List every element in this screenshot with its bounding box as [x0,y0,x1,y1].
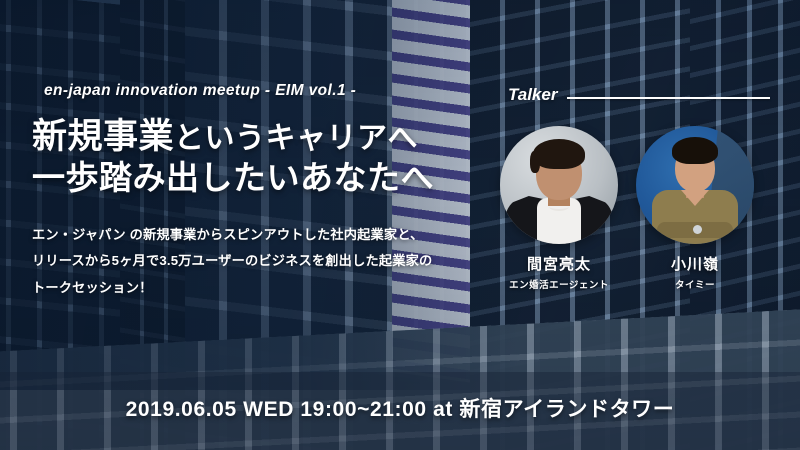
event-series-kicker: en-japan innovation meetup - EIM vol.1 - [44,82,356,100]
event-datetime-bar: 2019.06.05 WED 19:00~21:00 at 新宿アイランドタワー [0,386,800,430]
talker-section-header: Talker [508,84,770,106]
speaker-name: 小川嶺 [636,253,754,274]
event-banner: en-japan innovation meetup - EIM vol.1 -… [0,0,800,450]
speaker-avatar [636,126,754,244]
lead-line: トークセッション！ [32,275,452,301]
lead-line: リリースから5ヶ月で3.5万ユーザーのビジネスを創出した起業家の [32,248,452,274]
speaker-list: 間宮亮太 エン婚活エージェント 小川嶺 タイミー [500,126,785,291]
talker-divider-rule [567,97,770,99]
event-datetime-text: 2019.06.05 WED 19:00~21:00 at 新宿アイランドタワー [126,393,675,423]
headline-emphasis: 新規事業 [32,117,174,156]
headline-line-1-rest: というキャリアへ [174,122,418,155]
speaker-org: エン婚活エージェント [500,277,618,291]
banner-content: en-japan innovation meetup - EIM vol.1 -… [0,0,800,450]
speaker-name: 間宮亮太 [500,253,618,274]
speaker-card: 小川嶺 タイミー [636,126,754,291]
speaker-avatar [500,126,618,244]
headline: 新規事業というキャリアへ 一歩踏み出したいあなたへ [32,116,502,198]
speaker-org: タイミー [636,277,754,291]
headline-line-2: 一歩踏み出したいあなたへ [32,159,502,198]
lead-line: エン・ジャパン の新規事業からスピンアウトした社内起業家と、 [32,222,452,248]
speaker-card: 間宮亮太 エン婚活エージェント [500,126,618,291]
talker-label: Talker [508,85,557,105]
headline-line-1: 新規事業というキャリアへ [32,116,502,157]
lead-paragraph: エン・ジャパン の新規事業からスピンアウトした社内起業家と、 リリースから5ヶ月… [32,222,452,301]
